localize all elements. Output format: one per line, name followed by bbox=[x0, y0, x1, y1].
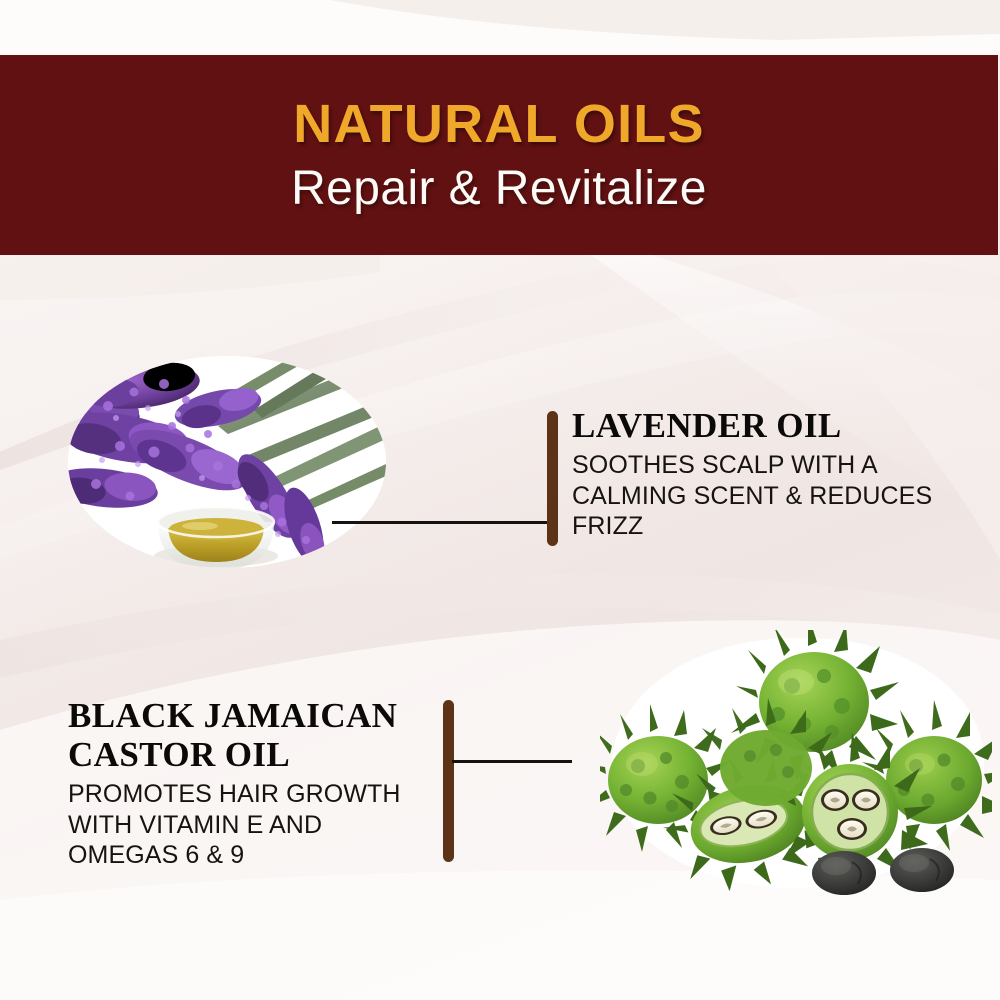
page-title: NATURAL OILS bbox=[293, 97, 704, 151]
castor-oil-title: BLACK JAMAICAN CASTOR OIL bbox=[68, 696, 438, 774]
castor-marker-bar bbox=[443, 700, 454, 862]
lavender-oil-image bbox=[68, 356, 386, 568]
ingredient-black-jamaican-castor-oil: BLACK JAMAICAN CASTOR OIL PROMOTES HAIR … bbox=[68, 696, 438, 871]
castor-desc-line-1: PROMOTES HAIR GROWTH bbox=[68, 779, 438, 810]
castor-desc-line-2: WITH VITAMIN E AND bbox=[68, 810, 438, 841]
oil-bowl bbox=[154, 507, 278, 568]
castor-desc-line-3: OMEGAS 6 & 9 bbox=[68, 840, 438, 871]
castor-oil-image bbox=[600, 630, 992, 902]
page-subtitle: Repair & Revitalize bbox=[291, 165, 707, 213]
lavender-oil-title: LAVENDER OIL bbox=[572, 406, 952, 445]
castor-oil-description: PROMOTES HAIR GROWTH WITH VITAMIN E AND … bbox=[68, 779, 438, 871]
castor-title-line-2: CASTOR OIL bbox=[68, 735, 438, 774]
lavender-desc-line-1: SOOTHES SCALP WITH A bbox=[572, 450, 952, 481]
lavender-oil-description: SOOTHES SCALP WITH A CALMING SCENT & RED… bbox=[572, 450, 952, 542]
header-band: NATURAL OILS Repair & Revitalize bbox=[0, 55, 998, 255]
lavender-desc-line-3: FRIZZ bbox=[572, 511, 952, 542]
lavender-desc-line-2: CALMING SCENT & REDUCES bbox=[572, 481, 952, 512]
castor-connector-line bbox=[452, 760, 572, 763]
castor-title-line-1: BLACK JAMAICAN bbox=[68, 696, 438, 735]
lavender-connector-line bbox=[332, 521, 552, 524]
lavender-marker-bar bbox=[547, 411, 558, 546]
ingredient-lavender-oil: LAVENDER OIL SOOTHES SCALP WITH A CALMIN… bbox=[572, 406, 952, 542]
infographic-poster: NATURAL OILS Repair & Revitalize bbox=[0, 0, 1000, 1000]
